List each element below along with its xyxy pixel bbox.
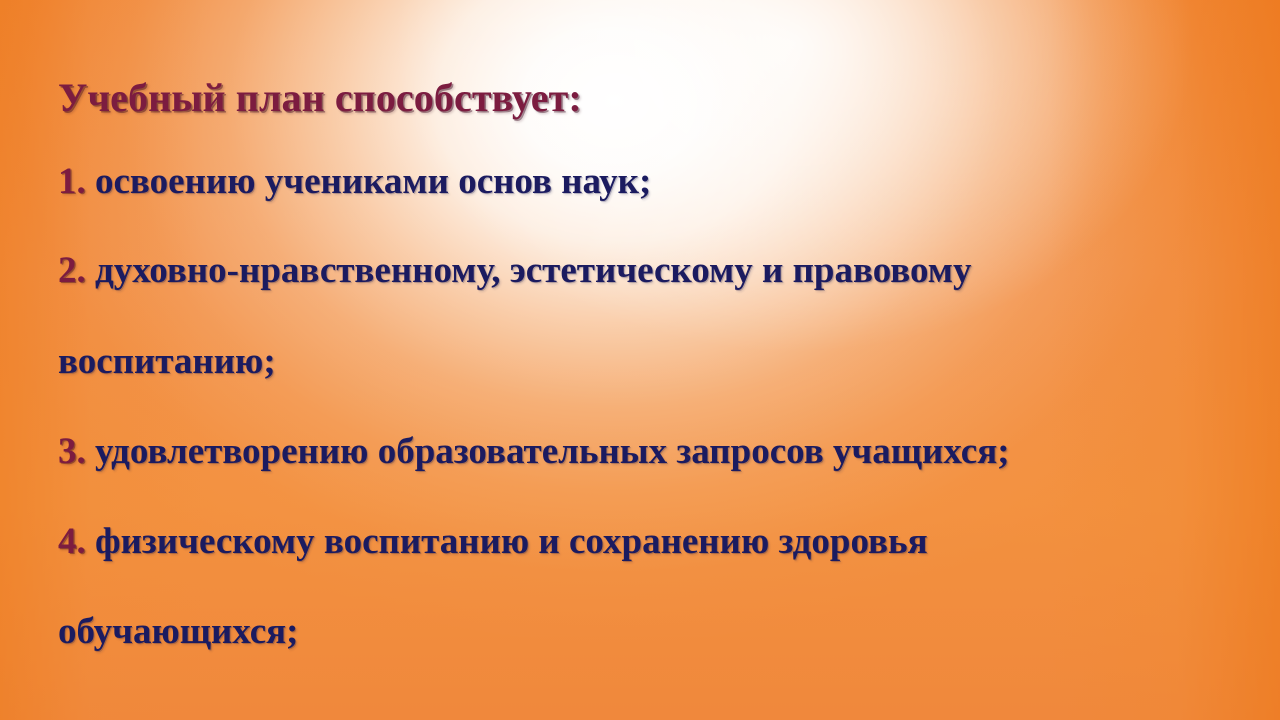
list-item-4-text: физическому воспитанию и сохранению здор…	[95, 521, 928, 562]
list-item-1-number: 1.	[58, 161, 86, 202]
list-item-1-text: освоению учениками основ наук;	[95, 161, 651, 202]
slide-content: Учебный план способствует: 1. освоению у…	[0, 0, 1280, 720]
list-item-4-number: 4.	[58, 521, 86, 562]
list-item-2-text-continued: воспитанию;	[58, 343, 276, 380]
slide-title: Учебный план способствует:	[58, 78, 582, 118]
list-item-2-number: 2.	[58, 250, 86, 291]
list-item-3-number: 3.	[58, 431, 86, 472]
list-item-4-text-continued: обучающихся;	[58, 613, 298, 650]
list-item-3-text: удовлетворению образовательных запросов …	[95, 431, 1010, 472]
list-item-2: 2. духовно-нравственному, эстетическому …	[58, 252, 972, 289]
list-item-3: 3. удовлетворению образовательных запрос…	[58, 433, 1010, 470]
presentation-slide: Учебный план способствует: 1. освоению у…	[0, 0, 1280, 720]
list-item-4: 4. физическому воспитанию и сохранению з…	[58, 523, 928, 560]
list-item-2-text: духовно-нравственному, эстетическому и п…	[95, 250, 972, 291]
list-item-1: 1. освоению учениками основ наук;	[58, 163, 651, 200]
